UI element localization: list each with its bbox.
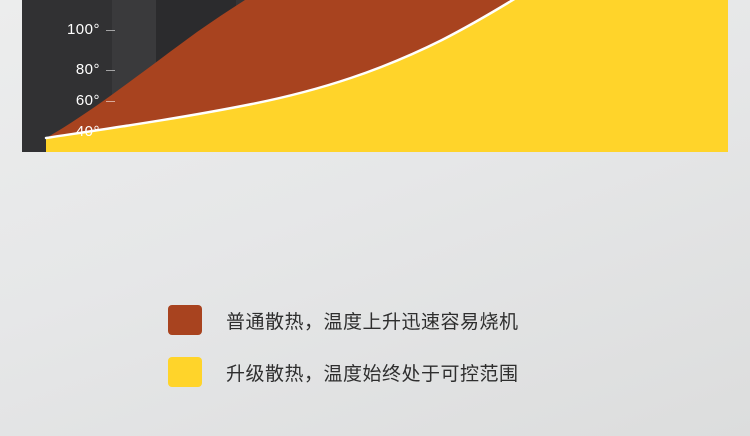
y-tick-label-120: 120°: [22, 0, 100, 3]
y-tick-label-60: 60°: [22, 92, 100, 109]
y-tick-mark-100: [106, 30, 115, 31]
legend-label-upgraded-cooling: 升级散热，温度始终处于可控范围: [226, 359, 519, 386]
legend-item-upgraded-cooling: 升级散热，温度始终处于可控范围: [168, 357, 688, 387]
y-tick-mark-60: [106, 101, 115, 102]
y-axis: 180° 160° 140° 120° 100° 80° 60° 40°: [22, 0, 112, 152]
legend-item-normal-cooling: 普通散热，温度上升迅速容易烧机: [168, 305, 688, 335]
legend-swatch-upgraded-cooling: [168, 357, 202, 387]
y-tick-mark-80: [106, 70, 115, 71]
thermal-chart: 180° 160° 140° 120° 100° 80° 60° 40°: [0, 0, 750, 272]
area-series-svg: [22, 0, 728, 152]
legend-swatch-normal-cooling: [168, 305, 202, 335]
chart-legend: 普通散热，温度上升迅速容易烧机 升级散热，温度始终处于可控范围: [168, 305, 688, 409]
y-tick-label-100: 100°: [22, 21, 100, 38]
legend-label-normal-cooling: 普通散热，温度上升迅速容易烧机: [226, 307, 519, 334]
y-tick-label-80: 80°: [22, 61, 100, 78]
y-tick-label-40: 40°: [22, 123, 100, 140]
page-background: 180° 160° 140° 120° 100° 80° 60° 40° 普通散…: [0, 0, 750, 436]
chart-plot-area: [22, 0, 728, 152]
